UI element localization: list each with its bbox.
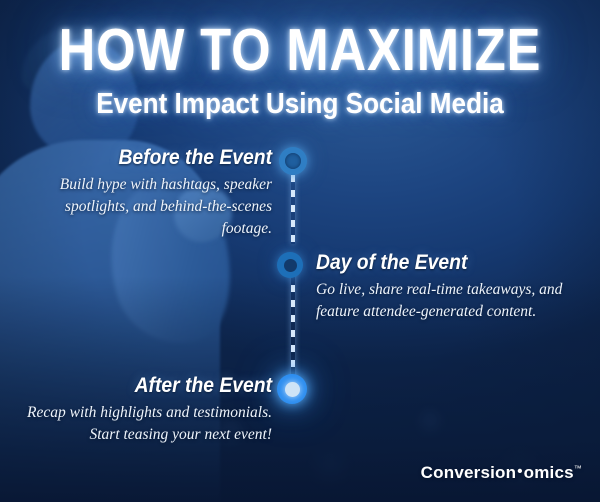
brand-name-part1: Conversion xyxy=(421,463,517,482)
timeline-node-inner xyxy=(285,382,300,397)
timeline-step-after-event: After the Event Recap with highlights an… xyxy=(20,374,272,446)
step-heading: After the Event xyxy=(40,374,272,397)
infographic-canvas: HOW TO MAXIMIZE Event Impact Using Socia… xyxy=(0,0,600,502)
timeline-node-inner xyxy=(285,153,301,169)
step-description: Build hype with hashtags, speaker spotli… xyxy=(20,174,272,240)
step-heading: Before the Event xyxy=(40,146,272,169)
brand-name-part2: omics xyxy=(524,463,574,482)
timeline-node-inner xyxy=(284,259,297,272)
page-title: HOW TO MAXIMIZE xyxy=(42,22,558,80)
header-block: HOW TO MAXIMIZE Event Impact Using Socia… xyxy=(0,22,600,121)
step-description: Go live, share real-time takeaways, and … xyxy=(316,279,566,323)
brand-logo[interactable]: Conversion•omics™ xyxy=(421,463,582,483)
page-subtitle: Event Impact Using Social Media xyxy=(30,89,570,121)
step-heading: Day of the Event xyxy=(316,251,546,274)
timeline-node-before-event xyxy=(279,147,307,175)
step-description: Recap with highlights and testimonials. … xyxy=(20,402,272,446)
timeline-node-after-event xyxy=(277,374,307,404)
timeline-node-day-of-event xyxy=(277,252,303,278)
timeline-step-before-event: Before the Event Build hype with hashtag… xyxy=(20,146,272,240)
timeline-step-day-of-event: Day of the Event Go live, share real-tim… xyxy=(316,251,566,323)
brand-separator-dot: • xyxy=(516,463,523,480)
trademark-symbol: ™ xyxy=(574,464,582,473)
